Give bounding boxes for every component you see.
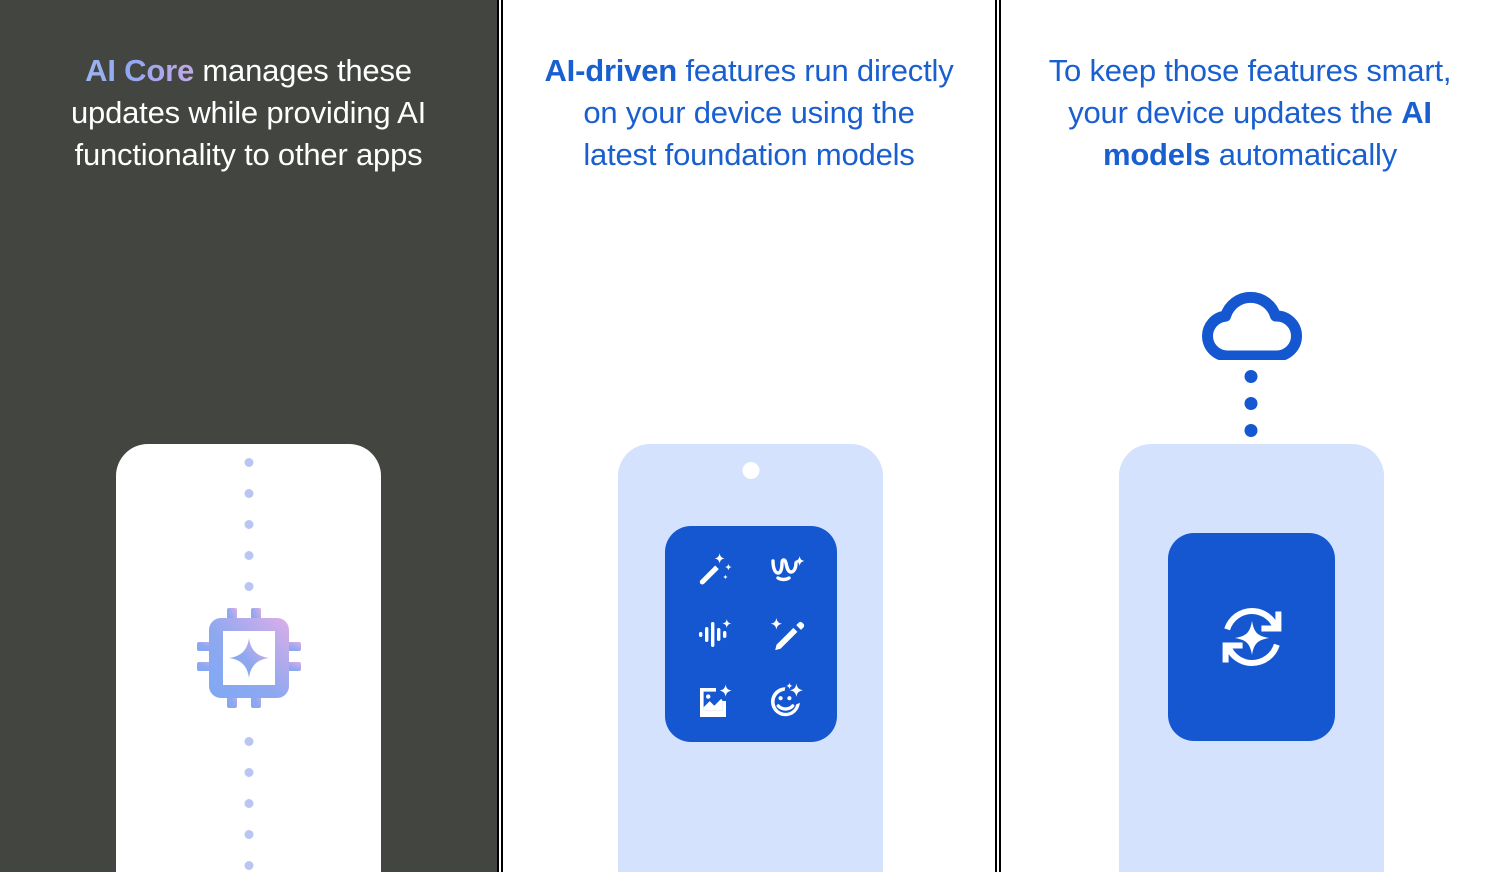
- flow-dot: [244, 458, 253, 467]
- flow-dot: [244, 489, 253, 498]
- flow-dot: [244, 768, 253, 777]
- flow-dot: [244, 830, 253, 839]
- flow-dot: [1245, 424, 1258, 437]
- panel-2-caption: AI-driven features run directly on your …: [503, 50, 995, 176]
- caption-suffix-text: automatically: [1210, 137, 1397, 172]
- panel-ai-core: AI Core manages these updates while prov…: [0, 0, 497, 872]
- audio-waveform-sparkle-icon: [695, 614, 735, 654]
- panel-1-caption: AI Core manages these updates while prov…: [0, 50, 497, 176]
- magic-wand-sparkle-icon: [695, 547, 735, 587]
- flow-dot: [244, 799, 253, 808]
- pencil-sparkle-icon: [767, 614, 807, 654]
- model-update-tile: [1168, 533, 1335, 741]
- ai-chip-icon: [189, 598, 309, 718]
- flow-dot: [1245, 397, 1258, 410]
- flow-dot: [244, 861, 253, 870]
- infographic-board: AI Core manages these updates while prov…: [0, 0, 1500, 872]
- flow-dot: [244, 582, 253, 591]
- flow-dot: [244, 520, 253, 529]
- caption-highlight-ai-core: AI Core: [85, 53, 194, 88]
- flow-dot: [244, 551, 253, 560]
- camera-dot: [743, 462, 760, 479]
- caption-highlight-ai-driven: AI-driven: [544, 53, 677, 88]
- flow-dot: [1245, 370, 1258, 383]
- image-sparkle-icon: [695, 681, 735, 721]
- face-retouch-sparkle-icon: [767, 681, 807, 721]
- sync-sparkle-icon: [1215, 600, 1289, 674]
- ai-feature-tile: [665, 526, 837, 742]
- caption-prefix-text: To keep those features smart, your devic…: [1049, 53, 1452, 130]
- auto-draw-sparkle-icon: [767, 547, 807, 587]
- cloud-icon: [1199, 286, 1303, 360]
- panel-3-caption: To keep those features smart, your devic…: [1001, 50, 1499, 176]
- flow-dot: [244, 737, 253, 746]
